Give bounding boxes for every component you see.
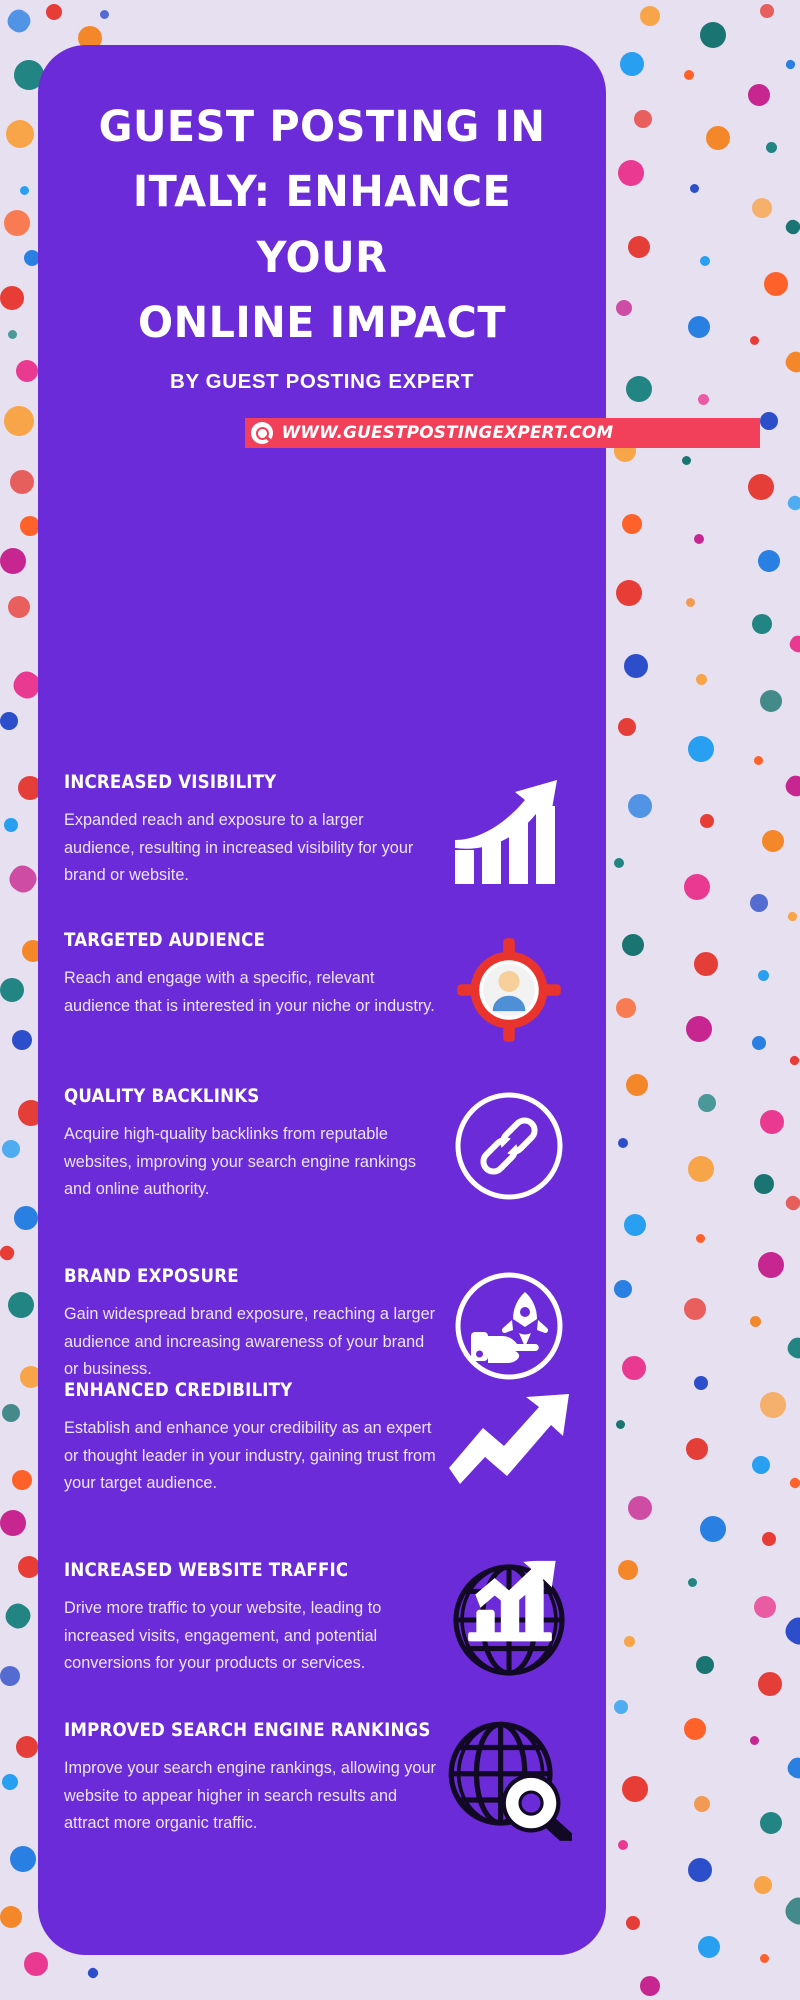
- upward-arrow-icon: [436, 1380, 582, 1500]
- title-line-3: ONLINE IMPACT: [84, 291, 560, 356]
- confetti-dot: [696, 1656, 714, 1674]
- confetti-dot: [752, 1456, 770, 1474]
- confetti-dot: [10, 1846, 36, 1872]
- benefit-heading: QUALITY BACKLINKS: [64, 1086, 399, 1107]
- confetti-dot: [690, 184, 699, 193]
- confetti-dot: [783, 217, 800, 236]
- confetti-dot: [622, 514, 642, 534]
- confetti-dot: [684, 874, 710, 900]
- search-icon: [251, 422, 273, 444]
- confetti-dot: [700, 22, 726, 48]
- confetti-dot: [758, 1252, 784, 1278]
- page-subtitle: BY GUEST POSTING EXPERT: [74, 370, 570, 394]
- confetti-dot: [622, 934, 644, 956]
- confetti-dot: [785, 493, 800, 512]
- confetti-dot: [684, 1718, 706, 1740]
- confetti-dot: [622, 1776, 648, 1802]
- benefit-heading: IMPROVED SEARCH ENGINE RANKINGS: [64, 1720, 399, 1741]
- confetti-dot: [688, 1578, 697, 1587]
- confetti-dot: [12, 1030, 32, 1050]
- chain-link-icon-svg: [453, 1090, 565, 1202]
- confetti-dot: [624, 1636, 635, 1647]
- target-audience-icon-svg: [457, 939, 561, 1043]
- confetti-dot: [18, 1556, 40, 1578]
- confetti-dot: [618, 160, 644, 186]
- confetti-dot: [622, 1356, 646, 1380]
- confetti-dot: [0, 978, 24, 1002]
- confetti-dot: [616, 998, 636, 1018]
- confetti-dot: [694, 1376, 708, 1390]
- benefit-body: Drive more traffic to your website, lead…: [64, 1595, 436, 1677]
- confetti-dot: [626, 376, 652, 402]
- confetti-dot: [616, 300, 632, 316]
- confetti-dot: [760, 4, 774, 18]
- benefit-heading: ENHANCED CREDIBILITY: [64, 1380, 399, 1401]
- benefit-text-block: INCREASED WEBSITE TRAFFICDrive more traf…: [64, 1560, 436, 1677]
- confetti-dot: [694, 534, 704, 544]
- confetti-dot: [752, 1036, 766, 1050]
- confetti-dot: [2, 1404, 20, 1422]
- confetti-dot: [46, 4, 62, 20]
- confetti-dot: [0, 1666, 20, 1686]
- benefit-text-block: BRAND EXPOSUREGain widespread brand expo…: [64, 1266, 436, 1383]
- confetti-dot: [614, 1700, 628, 1714]
- confetti-dot: [760, 1110, 784, 1134]
- confetti-dot: [784, 1754, 800, 1782]
- confetti-dot: [700, 814, 714, 828]
- confetti-dot: [760, 690, 782, 712]
- hand-rocket-icon-svg: [453, 1270, 565, 1382]
- confetti-dot: [8, 330, 17, 339]
- globe-search-icon-svg: [446, 1720, 572, 1842]
- confetti-dot: [787, 633, 800, 655]
- confetti-dot: [24, 1952, 48, 1976]
- confetti-dot: [1, 1599, 34, 1632]
- confetti-dot: [760, 1392, 786, 1418]
- benefit-section: IMPROVED SEARCH ENGINE RANKINGSImprove y…: [38, 1720, 606, 1840]
- confetti-dot: [688, 1156, 714, 1182]
- confetti-dot: [626, 1916, 640, 1930]
- confetti-dot: [688, 316, 710, 338]
- confetti-dot: [624, 654, 648, 678]
- confetti-dot: [684, 1298, 706, 1320]
- confetti-dot: [754, 756, 763, 765]
- title-line-2: ITALY: ENHANCE YOUR: [84, 160, 560, 291]
- confetti-dot: [10, 470, 34, 494]
- confetti-dot: [16, 360, 38, 382]
- confetti-dot: [760, 412, 778, 430]
- confetti-dot: [624, 1214, 646, 1236]
- confetti-dot: [618, 1138, 628, 1148]
- confetti-dot: [696, 674, 707, 685]
- confetti-dot: [786, 910, 799, 923]
- benefit-body: Reach and engage with a specific, releva…: [64, 965, 436, 1020]
- benefit-text-block: INCREASED VISIBILITYExpanded reach and e…: [64, 772, 436, 889]
- confetti-dot: [626, 1074, 648, 1096]
- confetti-dot: [8, 596, 30, 618]
- confetti-dot: [86, 1966, 100, 1980]
- confetti-dot: [8, 1292, 34, 1318]
- confetti-dot: [694, 1796, 710, 1812]
- confetti-dot: [782, 772, 800, 800]
- benefit-body: Establish and enhance your credibility a…: [64, 1415, 436, 1497]
- benefit-body: Gain widespread brand exposure, reaching…: [64, 1301, 436, 1383]
- confetti-dot: [2, 1140, 20, 1158]
- confetti-dot: [14, 1206, 38, 1230]
- confetti-dot: [754, 1174, 774, 1194]
- confetti-dot: [760, 1812, 782, 1834]
- globe-chart-icon-svg: [450, 1561, 568, 1679]
- confetti-dot: [618, 718, 636, 736]
- benefit-heading: INCREASED WEBSITE TRAFFIC: [64, 1560, 399, 1581]
- confetti-dot: [4, 210, 30, 236]
- confetti-dot: [696, 1234, 705, 1243]
- confetti-dot: [628, 236, 650, 258]
- benefit-section: INCREASED WEBSITE TRAFFICDrive more traf…: [38, 1560, 606, 1680]
- benefit-section: BRAND EXPOSUREGain widespread brand expo…: [38, 1266, 606, 1386]
- confetti-dot: [760, 1954, 769, 1963]
- confetti-dot: [688, 736, 714, 762]
- confetti-dot: [784, 58, 797, 71]
- confetti-dot: [754, 1876, 772, 1894]
- confetti-dot: [616, 1420, 625, 1429]
- confetti-dot: [684, 70, 694, 80]
- benefit-section: QUALITY BACKLINKSAcquire high-quality ba…: [38, 1086, 606, 1206]
- confetti-dot: [640, 6, 660, 26]
- confetti-dot: [640, 1976, 660, 1996]
- confetti-dot: [628, 794, 652, 818]
- confetti-dot: [618, 1560, 638, 1580]
- header: GUEST POSTING IN ITALY: ENHANCE YOUR ONL…: [38, 45, 606, 394]
- confetti-dot: [4, 818, 18, 832]
- confetti-dot: [694, 952, 718, 976]
- confetti-dot: [750, 894, 768, 912]
- growth-chart-icon-svg: [453, 778, 565, 886]
- website-url-banner[interactable]: WWW.GUESTPOSTINGEXPERT.COM: [245, 418, 760, 448]
- confetti-dot: [4, 406, 34, 436]
- globe-chart-icon: [435, 1559, 584, 1681]
- confetti-dot: [758, 970, 769, 981]
- confetti-dot: [0, 1510, 26, 1536]
- confetti-dot: [20, 516, 40, 536]
- confetti-dot: [752, 198, 772, 218]
- infographic-card: GUEST POSTING IN ITALY: ENHANCE YOUR ONL…: [38, 45, 606, 1955]
- confetti-dot: [628, 1496, 652, 1520]
- upward-arrow-icon-svg: [447, 1394, 571, 1486]
- confetti-dot: [2, 1774, 18, 1790]
- confetti-dot: [100, 10, 109, 19]
- confetti-dot: [750, 1316, 761, 1327]
- confetti-dot: [750, 336, 759, 345]
- benefit-text-block: QUALITY BACKLINKSAcquire high-quality ba…: [64, 1086, 436, 1203]
- confetti-dot: [0, 286, 24, 310]
- confetti-dot: [762, 1532, 776, 1546]
- confetti-dot: [686, 1438, 708, 1460]
- confetti-dot: [698, 1936, 720, 1958]
- confetti-dot: [16, 1736, 38, 1758]
- confetti-dot: [788, 1054, 800, 1067]
- confetti-dot: [698, 394, 709, 405]
- confetti-dot: [781, 1613, 800, 1649]
- confetti-dot: [748, 84, 770, 106]
- title-line-1: GUEST POSTING IN: [84, 95, 560, 160]
- confetti-dot: [700, 256, 710, 266]
- confetti-dot: [6, 120, 34, 148]
- globe-search-icon: [432, 1717, 585, 1843]
- confetti-dot: [5, 861, 41, 897]
- benefit-heading: BRAND EXPOSURE: [64, 1266, 399, 1287]
- confetti-dot: [758, 550, 780, 572]
- confetti-dot: [764, 272, 788, 296]
- confetti-dot: [698, 1094, 716, 1112]
- confetti-dot: [614, 858, 624, 868]
- chain-link-icon: [436, 1086, 582, 1206]
- benefit-body: Acquire high-quality backlinks from repu…: [64, 1121, 436, 1203]
- benefit-section: INCREASED VISIBILITYExpanded reach and e…: [38, 772, 606, 892]
- benefit-heading: INCREASED VISIBILITY: [64, 772, 399, 793]
- benefit-text-block: ENHANCED CREDIBILITYEstablish and enhanc…: [64, 1380, 436, 1497]
- benefit-body: Expanded reach and exposure to a larger …: [64, 807, 436, 889]
- confetti-dot: [762, 830, 784, 852]
- confetti-dot: [788, 1476, 800, 1490]
- confetti-dot: [20, 186, 29, 195]
- confetti-dot: [616, 580, 642, 606]
- confetti-dot: [682, 456, 691, 465]
- confetti-dot: [634, 110, 652, 128]
- confetti-dot: [688, 1858, 712, 1882]
- page-title: GUEST POSTING IN ITALY: ENHANCE YOUR ONL…: [84, 95, 560, 356]
- confetti-dot: [784, 1334, 800, 1362]
- benefit-section: ENHANCED CREDIBILITYEstablish and enhanc…: [38, 1380, 606, 1500]
- confetti-dot: [0, 712, 18, 730]
- confetti-dot: [686, 598, 695, 607]
- confetti-dot: [754, 1596, 776, 1618]
- confetti-dot: [783, 1193, 800, 1212]
- growth-chart-icon: [436, 772, 582, 892]
- website-url-text: WWW.GUESTPOSTINGEXPERT.COM: [282, 423, 614, 443]
- confetti-dot: [752, 614, 772, 634]
- confetti-dot: [4, 6, 35, 37]
- target-audience-icon: [439, 933, 579, 1048]
- confetti-dot: [750, 1736, 759, 1745]
- confetti-dot: [781, 1893, 800, 1929]
- hand-rocket-icon: [436, 1266, 582, 1386]
- confetti-dot: [758, 1672, 782, 1696]
- confetti-dot: [620, 52, 644, 76]
- confetti-dot: [12, 1470, 32, 1490]
- confetti-dot: [614, 1280, 632, 1298]
- confetti-dot: [782, 348, 800, 376]
- confetti-dot: [0, 1906, 22, 1928]
- confetti-dot: [748, 474, 774, 500]
- benefit-text-block: TARGETED AUDIENCEReach and engage with a…: [64, 930, 436, 1020]
- confetti-dot: [766, 142, 777, 153]
- benefit-section: TARGETED AUDIENCEReach and engage with a…: [38, 930, 606, 1050]
- benefit-body: Improve your search engine rankings, all…: [64, 1755, 436, 1837]
- confetti-dot: [700, 1516, 726, 1542]
- confetti-dot: [0, 1243, 17, 1262]
- benefit-text-block: IMPROVED SEARCH ENGINE RANKINGSImprove y…: [64, 1720, 436, 1837]
- confetti-dot: [686, 1016, 712, 1042]
- benefit-heading: TARGETED AUDIENCE: [64, 930, 399, 951]
- confetti-dot: [0, 548, 26, 574]
- confetti-dot: [618, 1840, 628, 1850]
- confetti-dot: [706, 126, 730, 150]
